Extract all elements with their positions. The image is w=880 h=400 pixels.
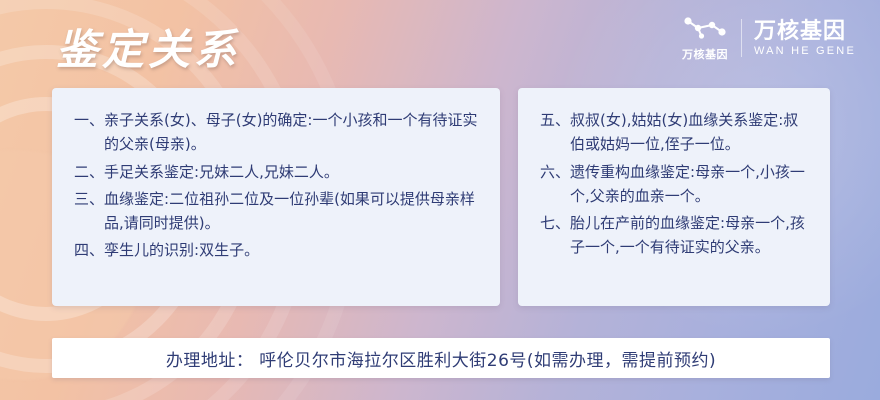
list-item-number: 六、 xyxy=(540,160,570,184)
relations-card-left: 一、 亲子关系(女)、母子(女)的确定:一个小孩和一个有待证实的父亲(母亲)。 … xyxy=(52,88,500,306)
list-item-text: 亲子关系(女)、母子(女)的确定:一个小孩和一个有待证实的父亲(母亲)。 xyxy=(104,108,478,157)
list-item-text: 孪生儿的识别:双生子。 xyxy=(104,238,478,262)
brand-name-block: 万核基因 WAN HE GENE xyxy=(741,19,856,57)
brand-logo: 万核基因 xyxy=(681,14,729,62)
list-item-text: 血缘鉴定:二位祖孙二位及一位孙辈(如果可以提供母亲样品,请同时提供)。 xyxy=(104,187,478,236)
cards-container: 一、 亲子关系(女)、母子(女)的确定:一个小孩和一个有待证实的父亲(母亲)。 … xyxy=(52,88,830,306)
list-item-number: 七、 xyxy=(540,211,570,235)
list-item-text: 叔叔(女),姑姑(女)血缘关系鉴定:叔伯或姑妈一位,侄子一位。 xyxy=(570,108,808,157)
list-item: 三、 血缘鉴定:二位祖孙二位及一位孙辈(如果可以提供母亲样品,请同时提供)。 xyxy=(74,187,478,236)
poster-root: 鉴定关系 万核基因 xyxy=(0,0,880,400)
list-item: 六、 遗传重构血缘鉴定:母亲一个,小孩一个,父亲的血亲一个。 xyxy=(540,160,808,209)
list-item: 四、 孪生儿的识别:双生子。 xyxy=(74,238,478,262)
list-item: 七、 胎儿在产前的血缘鉴定:母亲一个,孩子一个,一个有待证实的父亲。 xyxy=(540,211,808,260)
list-item-number: 一、 xyxy=(74,108,104,132)
list-item-text: 手足关系鉴定:兄妹二人,兄妹二人。 xyxy=(104,160,478,184)
molecule-icon xyxy=(681,14,729,45)
address-text: 办理地址： 呼伦贝尔市海拉尔区胜利大街26号(如需办理，需提前预约) xyxy=(166,346,716,371)
brand-logo-caption: 万核基因 xyxy=(682,46,728,62)
brand-name-en: WAN HE GENE xyxy=(754,45,856,57)
list-item: 二、 手足关系鉴定:兄妹二人,兄妹二人。 xyxy=(74,160,478,184)
list-item: 五、 叔叔(女),姑姑(女)血缘关系鉴定:叔伯或姑妈一位,侄子一位。 xyxy=(540,108,808,157)
list-item-text: 遗传重构血缘鉴定:母亲一个,小孩一个,父亲的血亲一个。 xyxy=(570,160,808,209)
list-item-number: 二、 xyxy=(74,160,104,184)
list-item: 一、 亲子关系(女)、母子(女)的确定:一个小孩和一个有待证实的父亲(母亲)。 xyxy=(74,108,478,157)
list-item-number: 四、 xyxy=(74,238,104,262)
page-title: 鉴定关系 xyxy=(56,16,240,77)
address-bar: 办理地址： 呼伦贝尔市海拉尔区胜利大街26号(如需办理，需提前预约) xyxy=(52,338,830,378)
brand-lockup: 万核基因 万核基因 WAN HE GENE xyxy=(681,14,856,62)
list-item-number: 三、 xyxy=(74,187,104,211)
relations-card-right: 五、 叔叔(女),姑姑(女)血缘关系鉴定:叔伯或姑妈一位,侄子一位。 六、 遗传… xyxy=(518,88,830,306)
list-item-text: 胎儿在产前的血缘鉴定:母亲一个,孩子一个,一个有待证实的父亲。 xyxy=(570,211,808,260)
list-item-number: 五、 xyxy=(540,108,570,132)
brand-name-cn: 万核基因 xyxy=(754,19,856,43)
